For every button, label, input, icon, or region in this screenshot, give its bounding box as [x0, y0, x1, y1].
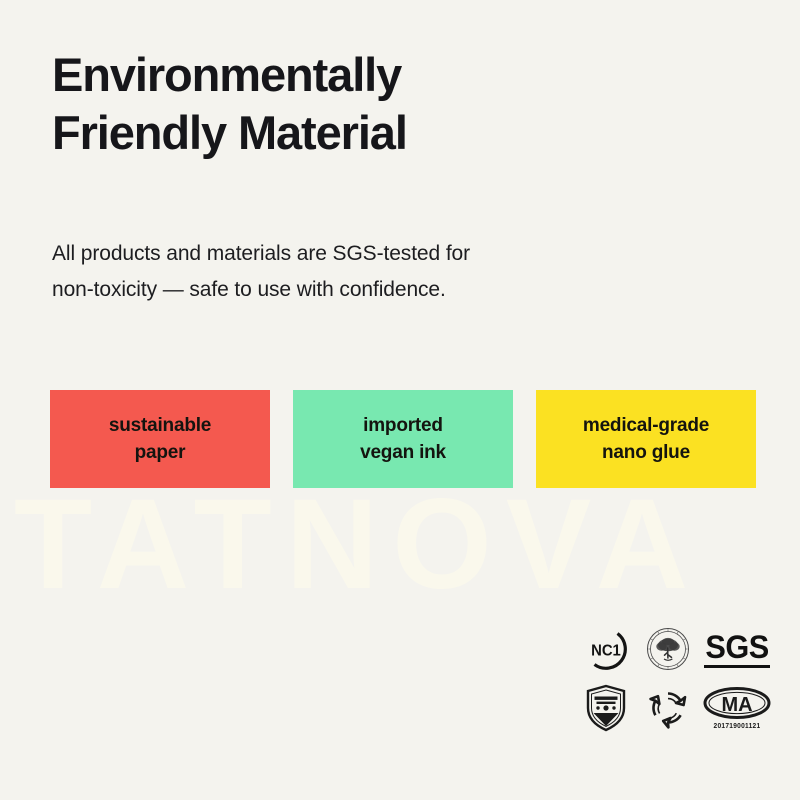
- page-title: Environmentally Friendly Material: [52, 46, 692, 162]
- poster-canvas: TATNOVA Environmentally Friendly Materia…: [0, 0, 800, 800]
- material-chip-list: sustainable paper imported vegan ink med…: [50, 390, 760, 488]
- chip-label-line-2: paper: [135, 442, 186, 463]
- chip-label-line-1: sustainable: [109, 415, 211, 436]
- svg-text:MA: MA: [721, 694, 752, 716]
- tree-seal-icon: [637, 626, 699, 672]
- chip-label-line-1: medical-grade: [583, 415, 709, 436]
- page-title-line-2: Friendly Material: [52, 104, 692, 162]
- certification-logo-grid: NC1: [575, 620, 775, 738]
- svg-text:NC1: NC1: [591, 642, 621, 660]
- ma-mark-code: 201719001121: [714, 723, 761, 730]
- sgs-logo: SGS: [699, 631, 775, 668]
- shield-badge-icon: [575, 684, 637, 732]
- brand-watermark: TATNOVA: [14, 480, 800, 610]
- page-subtitle: All products and materials are SGS-teste…: [52, 236, 652, 308]
- chip-label-line-2: vegan ink: [360, 442, 446, 463]
- chip-label-line-2: nano glue: [602, 442, 690, 463]
- material-chip-medical-grade-nano-glue: medical-grade nano glue: [536, 390, 756, 488]
- ma-mark-icon: MA 201719001121: [699, 687, 775, 730]
- nc1-icon: NC1: [575, 626, 637, 672]
- chip-label-line-1: imported: [363, 415, 443, 436]
- page-title-line-1: Environmentally: [52, 46, 692, 104]
- page-subtitle-line-1: All products and materials are SGS-teste…: [52, 236, 652, 272]
- recycle-icon: [637, 685, 699, 731]
- certification-row-bottom: MA 201719001121: [575, 678, 775, 738]
- material-chip-imported-vegan-ink: imported vegan ink: [293, 390, 513, 488]
- sgs-logo-rule: [704, 665, 770, 668]
- sgs-logo-text: SGS: [705, 631, 768, 663]
- certification-row-top: NC1: [575, 620, 775, 678]
- material-chip-sustainable-paper: sustainable paper: [50, 390, 270, 488]
- page-subtitle-line-2: non-toxicity — safe to use with confiden…: [52, 272, 652, 308]
